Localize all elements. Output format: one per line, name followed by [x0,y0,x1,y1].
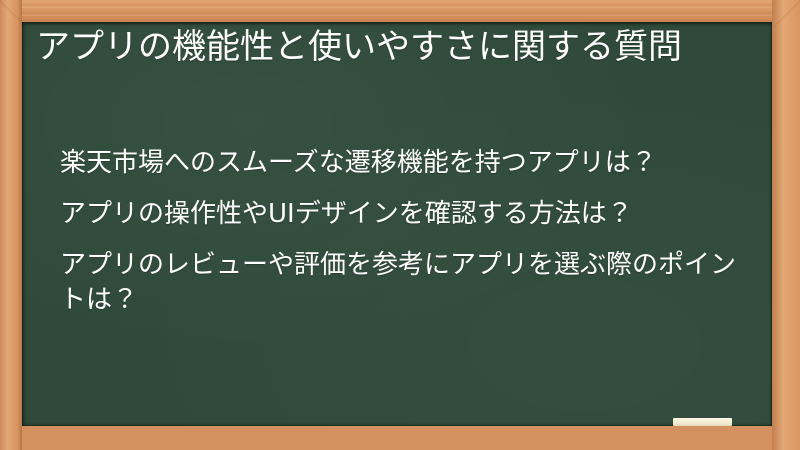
list-item: アプリの操作性やUIデザインを確認する方法は？ [60,197,746,232]
list-item: アプリのレビューや評価を参考にアプリを選ぶ際のポイントは？ [60,248,746,318]
page-title: アプリの機能性と使いやすさに関する質問 [36,26,750,69]
frame-mitre-top-left [0,0,24,24]
blackboard-frame: アプリの機能性と使いやすさに関する質問 楽天市場へのスムーズな遷移機能を持つアプ… [0,0,800,450]
wood-frame-top [0,0,800,24]
wood-frame-left [0,0,22,450]
frame-mitre-top-right [773,0,800,27]
list-item: 楽天市場へのスムーズな遷移機能を持つアプリは？ [60,146,746,181]
wood-frame-bottom [0,426,800,450]
chalk-stick-icon [673,418,732,426]
wood-frame-right [772,0,800,450]
question-list: 楽天市場へのスムーズな遷移機能を持つアプリは？ アプリの操作性やUIデザインを確… [60,146,746,318]
chalkboard-surface: アプリの機能性と使いやすさに関する質問 楽天市場へのスムーズな遷移機能を持つアプ… [22,22,772,426]
